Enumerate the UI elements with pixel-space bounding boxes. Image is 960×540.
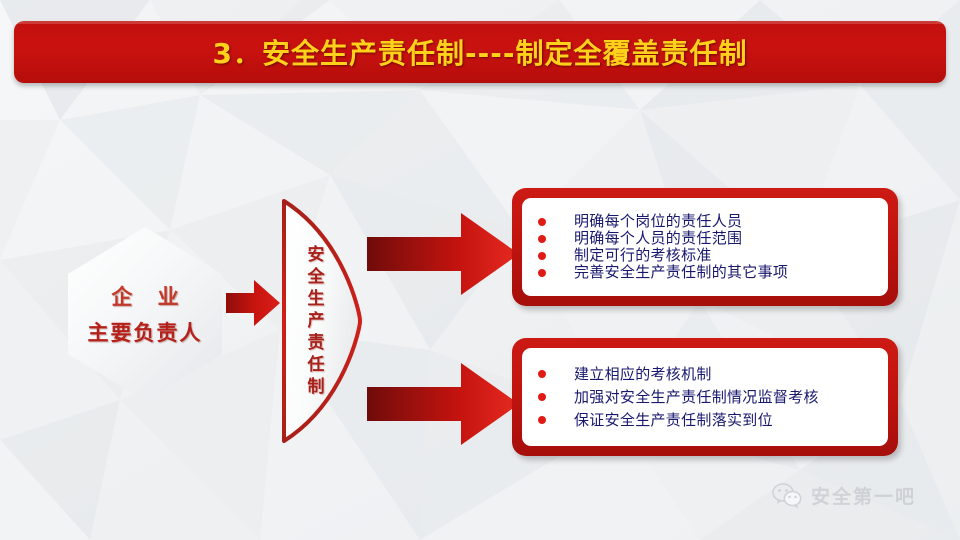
content-box-1: 明确每个岗位的责任人员 明确每个人员的责任范围 制定可行的考核标准 完善安全生产… [512, 188, 898, 306]
bullet-dot-icon [538, 416, 546, 424]
bullet-label: 明确每个岗位的责任人员 [574, 214, 742, 229]
slide-title-bar: 3．安全生产责任制----制定全覆盖责任制 [14, 21, 946, 83]
arrow-right-icon-bottom [367, 363, 519, 445]
bullet-dot-icon [538, 393, 546, 401]
bullet-dot-icon [538, 218, 546, 226]
bullet-label: 建立相应的考核机制 [574, 367, 712, 382]
bullet-dot-icon [538, 235, 546, 243]
content-box-2-inner: 建立相应的考核机制 加强对安全生产责任制情况监督考核 保证安全生产责任制落实到位 [522, 348, 888, 446]
list-item: 明确每个人员的责任范围 [538, 231, 878, 246]
arrow-right-icon-top [367, 213, 519, 295]
pillar-label: 安全生产责任制 [302, 245, 327, 399]
pillar-label-wrap: 安全生产责任制 [286, 212, 342, 432]
bullet-label: 完善安全生产责任制的其它事项 [574, 265, 788, 280]
watermark: 安全第一吧 [772, 482, 916, 509]
bullet-label: 加强对安全生产责任制情况监督考核 [574, 390, 819, 405]
bullet-label: 保证安全生产责任制落实到位 [574, 413, 773, 428]
bullet-dot-icon [538, 252, 546, 260]
watermark-label: 安全第一吧 [811, 482, 916, 509]
list-item: 明确每个岗位的责任人员 [538, 214, 878, 229]
page-title: 3．安全生产责任制----制定全覆盖责任制 [213, 32, 748, 72]
content-box-2: 建立相应的考核机制 加强对安全生产责任制情况监督考核 保证安全生产责任制落实到位 [512, 338, 898, 456]
list-item: 保证安全生产责任制落实到位 [538, 413, 878, 428]
hexagon-label-line-2: 主要负责人 [88, 317, 203, 347]
bullet-label: 明确每个人员的责任范围 [574, 231, 742, 246]
list-item: 建立相应的考核机制 [538, 367, 878, 382]
list-item: 加强对安全生产责任制情况监督考核 [538, 390, 878, 405]
list-item: 制定可行的考核标准 [538, 248, 878, 263]
bullet-dot-icon [538, 370, 546, 378]
content-box-1-inner: 明确每个岗位的责任人员 明确每个人员的责任范围 制定可行的考核标准 完善安全生产… [522, 198, 888, 296]
wechat-icon [772, 483, 802, 509]
slide-canvas: 3．安全生产责任制----制定全覆盖责任制 企 业 主要负责人 [0, 0, 960, 540]
bullet-dot-icon [538, 269, 546, 277]
list-item: 完善安全生产责任制的其它事项 [538, 265, 878, 280]
bullet-label: 制定可行的考核标准 [574, 248, 712, 263]
hexagon-label-line-1: 企 业 [102, 281, 187, 311]
